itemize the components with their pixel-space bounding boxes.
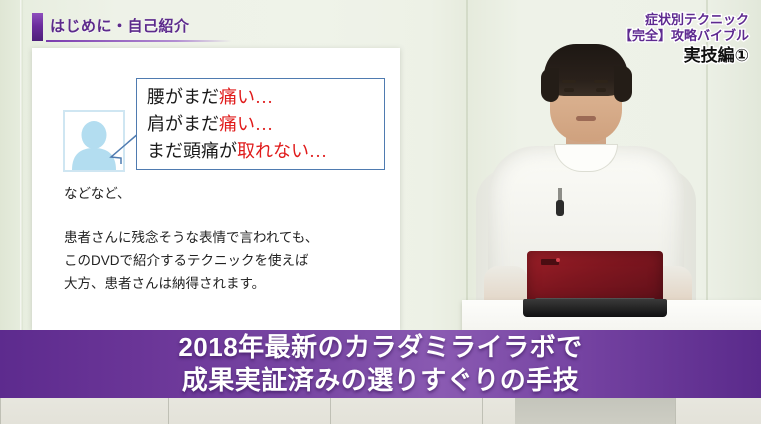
- speech-bubble-text: 腰がまだ痛い… 肩がまだ痛い… まだ頭痛が取れない…: [147, 84, 327, 165]
- laptop-logo-icon: [541, 259, 559, 265]
- banner-line-1: 2018年最新のカラダミライラボで: [178, 331, 582, 364]
- laptop-lid: [527, 251, 663, 303]
- speech-line-plain: 腰がまだ: [147, 87, 219, 107]
- wall-seam-left: [20, 0, 23, 366]
- heading-accent-bar: [32, 13, 43, 41]
- presenter-mouth: [576, 116, 596, 121]
- bottom-banner: 2018年最新のカラダミライラボで 成果実証済みの選りすぐりの手技: [0, 330, 761, 398]
- presenter-eye-right: [596, 88, 606, 92]
- heading-title: はじめに・自己紹介: [50, 15, 190, 36]
- badge-line-3: 実技編①: [599, 45, 749, 67]
- laptop: [523, 251, 667, 317]
- presenter-eye-left: [564, 88, 574, 92]
- laptop-base: [523, 299, 667, 317]
- body-line-1: などなど、: [64, 182, 394, 205]
- body-line-2: 患者さんに残念そうな表情で言われても、: [64, 226, 394, 249]
- body-line-4: 大方、患者さんは納得されます。: [64, 272, 394, 295]
- lapel-mic-icon: [556, 200, 564, 216]
- program-badge: 症状別テクニック 【完全】攻略バイブル 実技編①: [599, 12, 749, 67]
- speech-line-highlight: 痛い: [219, 87, 255, 107]
- video-frame: はじめに・自己紹介 腰がまだ痛い… 肩がまだ痛い… まだ頭痛が取れない… などな…: [0, 0, 761, 424]
- body-line-3: このDVDで紹介するテクニックを使えば: [64, 249, 394, 272]
- speech-line-highlight: 取れない: [237, 141, 309, 161]
- slide-body-copy: などなど、 患者さんに残念そうな表情で言われても、 このDVDで紹介するテクニッ…: [64, 182, 394, 295]
- speech-line-highlight: 痛い: [219, 114, 255, 134]
- speech-line: 腰がまだ痛い…: [147, 84, 327, 111]
- badge-line-1: 症状別テクニック: [599, 12, 749, 28]
- speech-bubble: 腰がまだ痛い… 肩がまだ痛い… まだ頭痛が取れない…: [136, 78, 385, 170]
- body-spacer: [64, 205, 394, 226]
- presenter-eyebrow-right: [594, 80, 608, 83]
- speech-line: 肩がまだ痛い…: [147, 111, 327, 138]
- speech-line: まだ頭痛が取れない…: [147, 138, 327, 165]
- heading-underline: [46, 40, 232, 42]
- badge-line-2: 【完全】攻略バイブル: [599, 28, 749, 44]
- slide-heading: はじめに・自己紹介: [32, 13, 232, 45]
- speech-line-plain: まだ頭痛が: [147, 141, 237, 161]
- banner-line-2: 成果実証済みの選りすぐりの手技: [182, 364, 580, 397]
- speech-line-tail: …: [309, 141, 327, 161]
- speech-line-tail: …: [255, 114, 273, 134]
- speech-line-plain: 肩がまだ: [147, 114, 219, 134]
- presenter-eyebrow-left: [562, 80, 576, 83]
- speech-line-tail: …: [255, 87, 273, 107]
